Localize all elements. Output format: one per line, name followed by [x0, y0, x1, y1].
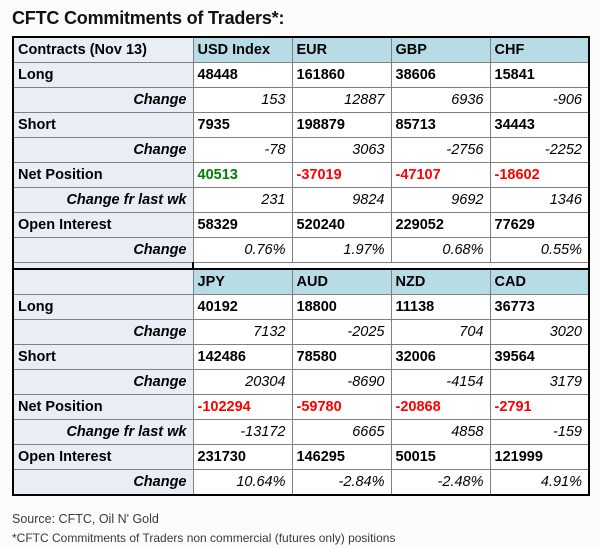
cell-value: -59780 — [292, 394, 391, 419]
row-label-net-position: Net Position — [13, 163, 193, 188]
table-header-row: Contracts (Nov 13)USD IndexEURGBPCHF — [13, 37, 589, 63]
table-row: Change153128876936-906 — [13, 88, 589, 113]
cell-value: 9692 — [391, 188, 490, 213]
cell-value: 32006 — [391, 344, 490, 369]
cell-value: -20868 — [391, 394, 490, 419]
footer-source: Source: CFTC, Oil N' Gold — [12, 510, 588, 529]
cell-value: -102294 — [193, 394, 292, 419]
row-label-short: Short — [13, 113, 193, 138]
table-row: Change20304-8690-41543179 — [13, 369, 589, 394]
column-header-jpy: JPY — [193, 269, 292, 295]
cell-value: 9824 — [292, 188, 391, 213]
column-header-aud: AUD — [292, 269, 391, 295]
cot-table-body: Contracts (Nov 13)USD IndexEURGBPCHFLong… — [13, 37, 589, 495]
table-row: Open Interest5832952024022905277629 — [13, 213, 589, 238]
table-row: Change0.76%1.97%0.68%0.55% — [13, 238, 589, 263]
table-row: Change fr last wk-1317266654858-159 — [13, 419, 589, 444]
cell-value: -78 — [193, 138, 292, 163]
column-header-gbp: GBP — [391, 37, 490, 63]
cell-value: 4858 — [391, 419, 490, 444]
column-header-usd-index: USD Index — [193, 37, 292, 63]
row-label-open-interest: Open Interest — [13, 213, 193, 238]
cell-value: 34443 — [490, 113, 589, 138]
cell-value: 58329 — [193, 213, 292, 238]
cell-value: 10.64% — [193, 469, 292, 495]
cell-value: 704 — [391, 319, 490, 344]
cell-value: -2791 — [490, 394, 589, 419]
cot-table: Contracts (Nov 13)USD IndexEURGBPCHFLong… — [12, 36, 590, 496]
row-label-change: Change — [13, 88, 193, 113]
cell-value: -2.48% — [391, 469, 490, 495]
table-row: Change10.64%-2.84%-2.48%4.91% — [13, 469, 589, 495]
table-row: Long40192188001113836773 — [13, 294, 589, 319]
cell-value: -18602 — [490, 163, 589, 188]
cot-report-page: CFTC Commitments of Traders*: Contracts … — [0, 0, 600, 544]
cell-value: 153 — [193, 88, 292, 113]
cell-value: 40192 — [193, 294, 292, 319]
footer-note: *CFTC Commitments of Traders non commerc… — [12, 529, 588, 548]
cell-value: -906 — [490, 88, 589, 113]
cell-value: 48448 — [193, 63, 292, 88]
row-label-net-position: Net Position — [13, 394, 193, 419]
cell-value: -13172 — [193, 419, 292, 444]
cell-value: 121999 — [490, 444, 589, 469]
cell-value: 0.68% — [391, 238, 490, 263]
row-label-long: Long — [13, 294, 193, 319]
table-row: Net Position-102294-59780-20868-2791 — [13, 394, 589, 419]
cell-value: 231730 — [193, 444, 292, 469]
cell-value: 146295 — [292, 444, 391, 469]
table-row: Short142486785803200639564 — [13, 344, 589, 369]
cell-value: 85713 — [391, 113, 490, 138]
cell-value: -4154 — [391, 369, 490, 394]
cell-value: 0.55% — [490, 238, 589, 263]
cell-value: -2025 — [292, 319, 391, 344]
cell-value: 77629 — [490, 213, 589, 238]
cell-value: -8690 — [292, 369, 391, 394]
cell-value: 20304 — [193, 369, 292, 394]
table-header-row: JPYAUDNZDCAD — [13, 269, 589, 295]
cell-value: -37019 — [292, 163, 391, 188]
footer: Source: CFTC, Oil N' Gold *CFTC Commitme… — [12, 496, 588, 548]
cell-value: 39564 — [490, 344, 589, 369]
table-row: Short79351988798571334443 — [13, 113, 589, 138]
cell-value: 11138 — [391, 294, 490, 319]
table-row: Change-783063-2756-2252 — [13, 138, 589, 163]
cell-value: -2.84% — [292, 469, 391, 495]
cell-value: 0.76% — [193, 238, 292, 263]
table-row: Open Interest23173014629550015121999 — [13, 444, 589, 469]
cell-value: 7132 — [193, 319, 292, 344]
cell-value: 78580 — [292, 344, 391, 369]
cell-value: 198879 — [292, 113, 391, 138]
cell-value: -159 — [490, 419, 589, 444]
cell-value: 40513 — [193, 163, 292, 188]
cell-value: 18800 — [292, 294, 391, 319]
cell-value: 3020 — [490, 319, 589, 344]
column-header-cad: CAD — [490, 269, 589, 295]
cell-value: 36773 — [490, 294, 589, 319]
table-header-label: Contracts (Nov 13) — [13, 37, 193, 63]
row-label-change-fr-last-wk: Change fr last wk — [13, 188, 193, 213]
column-header-chf: CHF — [490, 37, 589, 63]
cell-value: 231 — [193, 188, 292, 213]
cell-value: 1346 — [490, 188, 589, 213]
row-label-short: Short — [13, 344, 193, 369]
cell-value: 520240 — [292, 213, 391, 238]
cell-value: -2756 — [391, 138, 490, 163]
row-label-change: Change — [13, 369, 193, 394]
cell-value: 15841 — [490, 63, 589, 88]
cell-value: 161860 — [292, 63, 391, 88]
cell-value: 1.97% — [292, 238, 391, 263]
page-title: CFTC Commitments of Traders*: — [12, 0, 588, 36]
cell-value: 3179 — [490, 369, 589, 394]
column-header-nzd: NZD — [391, 269, 490, 295]
cell-value: 4.91% — [490, 469, 589, 495]
table-header-label — [13, 269, 193, 295]
row-label-change: Change — [13, 138, 193, 163]
cell-value: 142486 — [193, 344, 292, 369]
table-row: Change7132-20257043020 — [13, 319, 589, 344]
cell-value: 229052 — [391, 213, 490, 238]
cell-value: 7935 — [193, 113, 292, 138]
column-header-eur: EUR — [292, 37, 391, 63]
cell-value: 6936 — [391, 88, 490, 113]
table-row: Net Position40513-37019-47107-18602 — [13, 163, 589, 188]
cell-value: 6665 — [292, 419, 391, 444]
table-row: Change fr last wk231982496921346 — [13, 188, 589, 213]
row-label-change: Change — [13, 469, 193, 495]
row-label-change: Change — [13, 319, 193, 344]
row-label-long: Long — [13, 63, 193, 88]
row-label-open-interest: Open Interest — [13, 444, 193, 469]
cell-value: 38606 — [391, 63, 490, 88]
table-row: Long484481618603860615841 — [13, 63, 589, 88]
cell-value: 12887 — [292, 88, 391, 113]
cell-value: -47107 — [391, 163, 490, 188]
row-label-change-fr-last-wk: Change fr last wk — [13, 419, 193, 444]
cell-value: -2252 — [490, 138, 589, 163]
row-label-change: Change — [13, 238, 193, 263]
cell-value: 3063 — [292, 138, 391, 163]
cell-value: 50015 — [391, 444, 490, 469]
